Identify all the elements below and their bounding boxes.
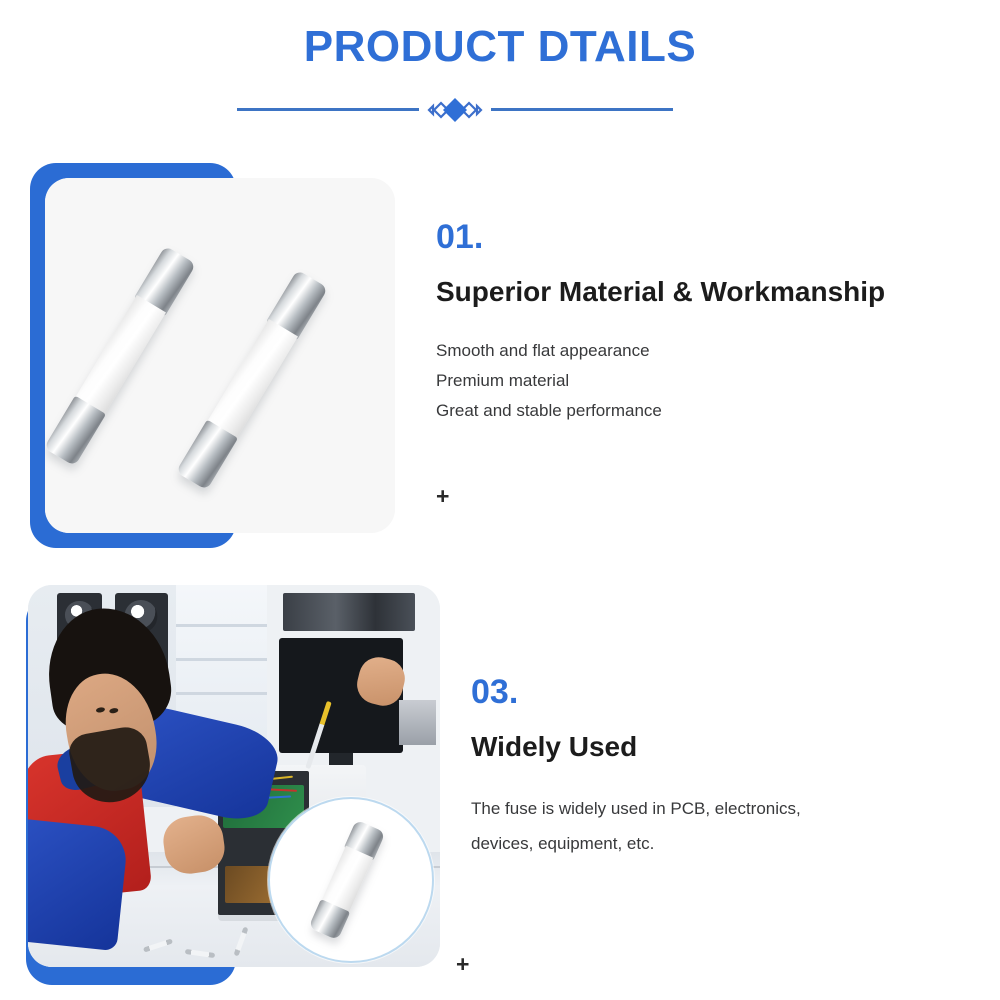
left-sleeve: [28, 817, 128, 951]
technician-figure: [28, 608, 242, 967]
feature-block-03: 03. Widely Used The fuse is widely used …: [0, 585, 1000, 1000]
page-title: PRODUCT DTAILS: [0, 22, 1000, 72]
hand: [160, 812, 227, 877]
divider-line-left: [237, 108, 419, 111]
expand-plus-icon[interactable]: +: [436, 485, 449, 508]
diamond-ornament-icon: [419, 95, 491, 125]
feature-description: The fuse is widely used in PCB, electron…: [471, 791, 981, 861]
feature-number: 01.: [436, 220, 976, 254]
expand-plus-icon[interactable]: +: [456, 953, 469, 976]
background-books: [399, 700, 436, 746]
fuse-closeup-inset: [268, 797, 434, 963]
fuse-item: [45, 246, 195, 466]
feature-text-03: 03. Widely Used The fuse is widely used …: [471, 675, 981, 861]
page-header: PRODUCT DTAILS: [0, 0, 1000, 140]
fuse-photo-canvas: [45, 178, 395, 533]
feature-bullet-list: Smooth and flat appearance Premium mater…: [436, 336, 976, 426]
feature-line: Premium material: [436, 366, 976, 396]
feature-number: 03.: [471, 675, 981, 709]
product-image-technician: [28, 585, 440, 967]
feature-title: Superior Material & Workmanship: [436, 276, 976, 308]
background-shelf-equipment: [283, 593, 415, 631]
fuse-item: [177, 270, 328, 490]
title-divider: [237, 95, 673, 125]
feature-text-01: 01. Superior Material & Workmanship Smoo…: [436, 220, 976, 426]
technician-photo-canvas: [28, 585, 440, 967]
feature-title: Widely Used: [471, 731, 981, 763]
feature-line: Great and stable performance: [436, 396, 976, 426]
divider-line-right: [491, 108, 673, 111]
feature-line: The fuse is widely used in PCB, electron…: [471, 791, 981, 826]
feature-line: Smooth and flat appearance: [436, 336, 976, 366]
feature-line: devices, equipment, etc.: [471, 826, 981, 861]
product-image-fuses: [45, 178, 395, 533]
fuse-item: [309, 820, 384, 940]
feature-block-01: 01. Superior Material & Workmanship Smoo…: [0, 155, 1000, 555]
